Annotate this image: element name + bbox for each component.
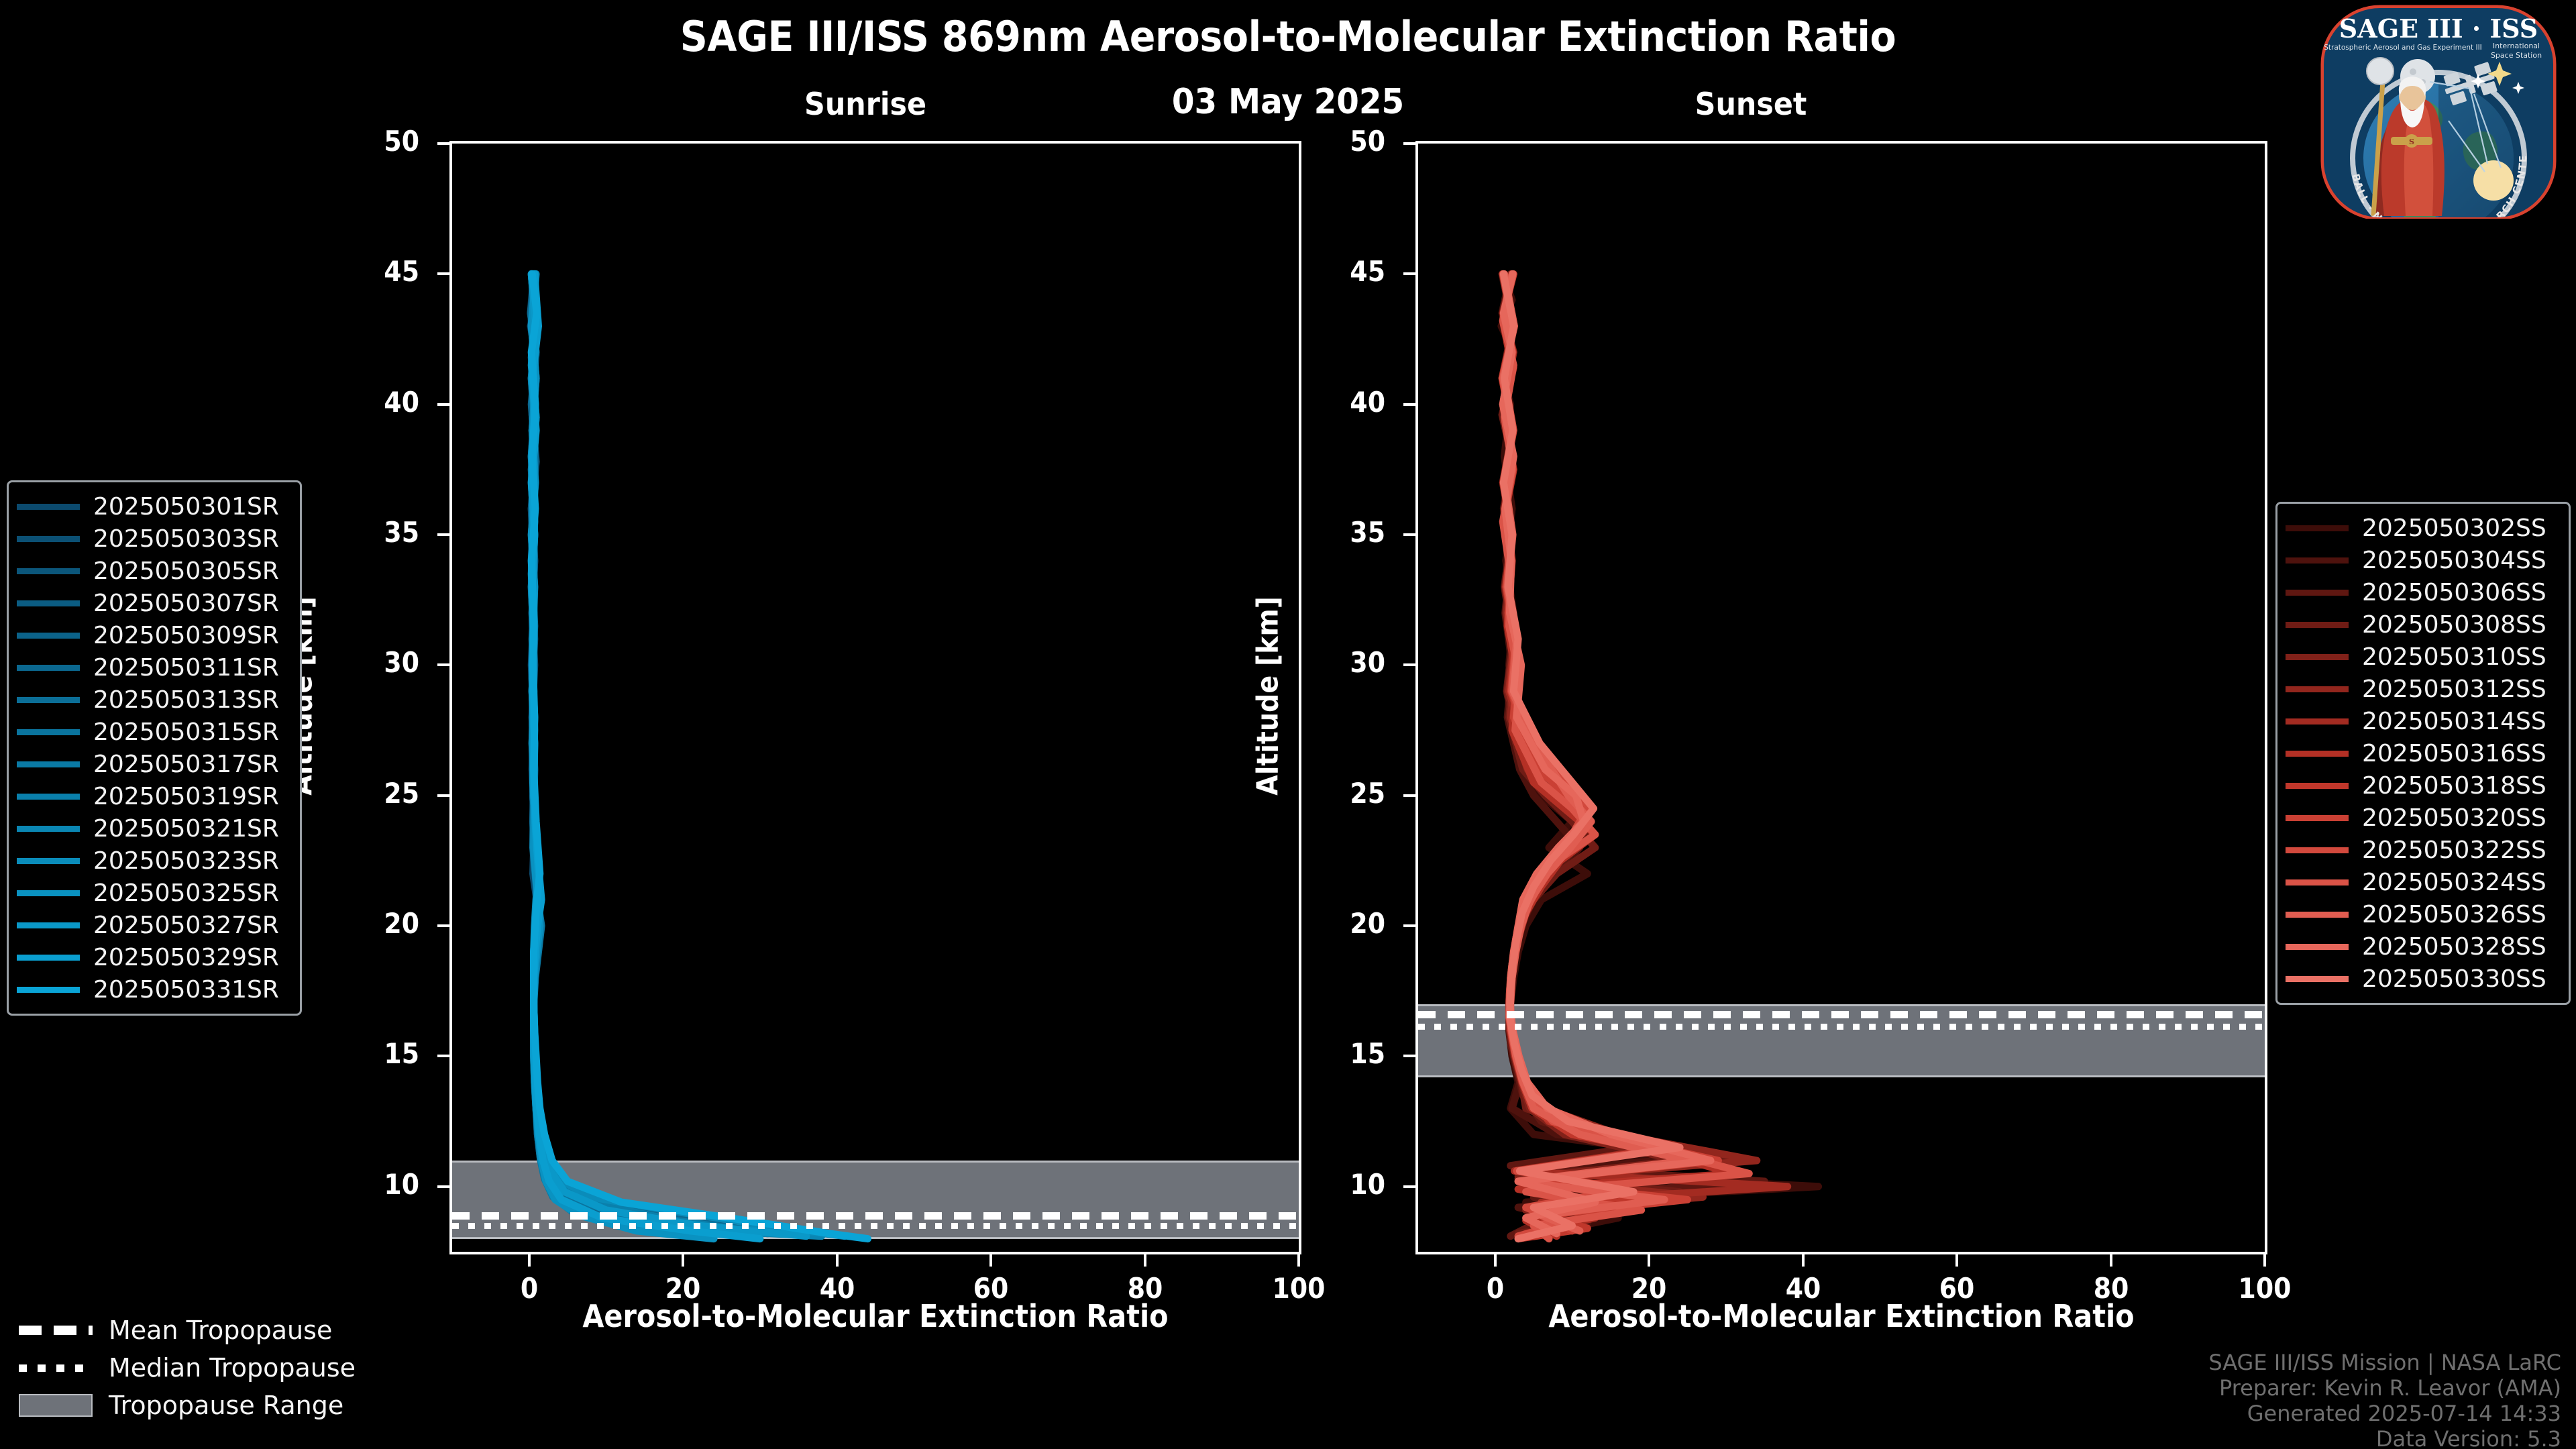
y-tick-label: 35 [329,516,419,549]
legend-color-swatch [17,697,80,703]
legend-color-swatch [17,922,80,928]
svg-text:S: S [2409,138,2414,146]
y-tick-mark [437,272,449,275]
legend-color-swatch [2286,976,2349,982]
series-line [531,274,767,1233]
legend-sunrise-item[interactable]: 2025050301SR [17,490,289,523]
median-tropopause-line [452,1223,1299,1229]
legend-item-label: 2025050315SR [93,718,279,746]
median-tropopause-line [1418,1024,2265,1030]
legend-sunset-item[interactable]: 2025050316SS [2286,737,2558,769]
series-line [531,274,845,1236]
legend-item-label: 2025050312SS [2362,676,2546,703]
shaded-band-icon [19,1394,93,1417]
series-line [531,274,721,1233]
legend-color-swatch [2286,751,2349,757]
legend-sunrise-item[interactable]: 2025050309SR [17,619,289,651]
legend-color-swatch [2286,718,2349,724]
legend-sunrise-item[interactable]: 2025050329SR [17,941,289,973]
legend-color-swatch [2286,622,2349,628]
chart-canvas: SAGE III/ISS 869nm Aerosol-to-Molecular … [0,0,2576,1449]
legend-color-swatch [17,504,80,510]
legend-item-label: 2025050306SS [2362,579,2546,606]
legend-color-swatch [17,890,80,896]
legend-sunrise-item[interactable]: 2025050317SR [17,748,289,780]
y-tick-label: 25 [1295,777,1385,810]
series-line [531,274,806,1236]
credits-line-preparer: Preparer: Kevin R. Leavor (AMA) [2208,1375,2561,1401]
legend-item-label: 2025050310SS [2362,643,2546,671]
y-tick-mark [1403,533,1415,536]
y-tick-label: 10 [1295,1168,1385,1201]
panel-title-sunset: Sunset [1333,86,2169,122]
legend-sunset-item[interactable]: 2025050324SS [2286,866,2558,898]
dotted-line-icon [19,1364,93,1372]
legend-color-swatch [17,794,80,800]
mission-patch-svg: S BALL · NASA LANGLEY RESEARCH CENTER · … [2305,3,2572,219]
series-line [531,274,821,1236]
x-tick-mark [528,1254,531,1267]
legend-color-swatch [17,858,80,864]
series-line [531,274,729,1233]
legend-color-swatch [17,536,80,542]
y-tick-label: 10 [329,1168,419,1201]
legend-sunrise-item[interactable]: 2025050331SR [17,973,289,1006]
series-line [531,274,760,1233]
legend-item-label: 2025050331SR [93,976,279,1004]
y-tick-label: 20 [1295,907,1385,940]
x-tick-mark [989,1254,992,1267]
legend-color-swatch [2286,686,2349,692]
mean-tropopause-line [452,1212,1299,1220]
y-tick-mark [1403,1185,1415,1188]
legend-color-swatch [2286,783,2349,789]
legend-color-swatch [17,955,80,961]
legend-color-swatch [17,665,80,671]
legend-item-label: 2025050303SR [93,525,279,553]
plot-area-sunrise [449,141,1301,1254]
plot-area-sunset [1415,141,2267,1254]
legend-sunset-item[interactable]: 2025050310SS [2286,641,2558,673]
legend-color-swatch [17,761,80,767]
series-line [531,274,814,1233]
legend-item-label: 2025050322SS [2362,837,2546,864]
series-line [531,274,683,1233]
legend-color-swatch [2286,654,2349,660]
legend-color-swatch [17,568,80,574]
dashed-line-icon [19,1326,93,1335]
mission-patch-subtitle-right-1: International [2493,42,2540,50]
x-tick-label: 100 [1244,1272,1353,1305]
y-tick-label: 40 [1295,386,1385,419]
legend-item-label: 2025050320SS [2362,804,2546,832]
x-tick-mark [2263,1254,2266,1267]
legend-sunrise-item[interactable]: 2025050303SR [17,523,289,555]
legend-item-label: 2025050311SR [93,654,279,682]
legend-color-swatch [2286,525,2349,531]
legend-item-label: 2025050326SS [2362,901,2546,928]
credits-line-generated: Generated 2025-07-14 14:33 [2208,1401,2561,1426]
y-tick-label: 25 [329,777,419,810]
mean-tropopause-label: Mean Tropopause [109,1316,332,1345]
legend-sunset[interactable]: 2025050302SS2025050304SS2025050306SS2025… [2275,502,2571,1005]
y-tick-label: 30 [329,646,419,679]
x-tick-mark [682,1254,684,1267]
page-title: SAGE III/ISS 869nm Aerosol-to-Molecular … [103,12,2473,61]
series-line [531,274,791,1233]
legend-item-label: 2025050314SS [2362,708,2546,735]
series-line [531,274,760,1238]
legend-sunrise-item[interactable]: 2025050307SR [17,587,289,619]
legend-color-swatch [2286,557,2349,563]
legend-item-label: 2025050307SR [93,590,279,617]
legend-sunset-item[interactable]: 2025050328SS [2286,930,2558,963]
legend-sunrise-item[interactable]: 2025050319SR [17,780,289,812]
y-tick-mark [437,1185,449,1188]
legend-sunset-item[interactable]: 2025050314SS [2286,705,2558,737]
legend-item-label: 2025050318SS [2362,772,2546,800]
legend-sunrise-item[interactable]: 2025050315SR [17,716,289,748]
series-line [531,274,783,1233]
legend-sunrise-item[interactable]: 2025050311SR [17,651,289,684]
legend-sunset-item[interactable]: 2025050302SS [2286,512,2558,544]
legend-sunset-item[interactable]: 2025050320SS [2286,802,2558,834]
series-line [531,274,714,1238]
y-tick-label: 20 [329,907,419,940]
legend-item-label: 2025050327SR [93,912,279,939]
legend-sunset-item[interactable]: 2025050308SS [2286,608,2558,641]
tropopause-legend: Mean Tropopause Median Tropopause Tropop… [19,1311,435,1424]
legend-item-label: 2025050309SR [93,622,279,649]
legend-sunset-item[interactable]: 2025050318SS [2286,769,2558,802]
mission-patch-subtitle-right-2: Space Station [2491,51,2542,60]
legend-color-swatch [2286,847,2349,853]
mission-patch-subtitle-left: Stratospheric Aerosol and Gas Experiment… [2324,44,2482,52]
y-tick-label: 50 [329,125,419,158]
series-line [531,274,745,1231]
x-tick-mark [1648,1254,1650,1267]
y-tick-mark [437,1055,449,1057]
y-tick-label: 15 [329,1037,419,1070]
legend-sunrise-item[interactable]: 2025050323SR [17,845,289,877]
legend-item-label: 2025050316SS [2362,740,2546,767]
legend-sunset-item[interactable]: 2025050322SS [2286,834,2558,866]
y-tick-label: 30 [1295,646,1385,679]
legend-color-swatch [2286,815,2349,821]
legend-color-swatch [17,987,80,993]
y-tick-mark [1403,794,1415,797]
x-tick-mark [836,1254,839,1267]
legend-item-label: 2025050329SR [93,944,279,971]
legend-sunset-item[interactable]: 2025050326SS [2286,898,2558,930]
legend-color-swatch [2286,912,2349,918]
y-tick-mark [437,403,449,406]
x-tick-mark [1955,1254,1958,1267]
legend-sunrise-item[interactable]: 2025050321SR [17,812,289,845]
y-tick-label: 35 [1295,516,1385,549]
y-tick-mark [1403,924,1415,927]
legend-item-label: 2025050330SS [2362,965,2546,993]
legend-sunset-item[interactable]: 2025050330SS [2286,963,2558,995]
legend-item-label: 2025050317SR [93,751,279,778]
legend-item-median-tropopause: Median Tropopause [19,1349,435,1387]
legend-color-swatch [17,600,80,606]
legend-sunset-item[interactable]: 2025050306SS [2286,576,2558,608]
mean-tropopause-line [1418,1011,2265,1018]
legend-item-label: 2025050305SR [93,557,279,585]
x-tick-mark [1297,1254,1300,1267]
legend-item-label: 2025050308SS [2362,611,2546,639]
credits-line-version: Data Version: 5.3 [2208,1426,2561,1449]
legend-item-label: 2025050325SR [93,879,279,907]
legend-item-label: 2025050313SR [93,686,279,714]
y-tick-mark [1403,403,1415,406]
legend-item-label: 2025050319SR [93,783,279,810]
y-tick-mark [1403,663,1415,666]
legend-item-label: 2025050321SR [93,815,279,843]
credits-block: SAGE III/ISS Mission | NASA LaRC Prepare… [2208,1350,2561,1449]
legend-sunrise-item[interactable]: 2025050305SR [17,555,289,587]
legend-item-label: 2025050304SS [2362,547,2546,574]
legend-color-swatch [2286,944,2349,950]
y-tick-label: 40 [329,386,419,419]
x-axis-title-sunrise: Aerosol-to-Molecular Extinction Ratio [492,1298,1259,1334]
series-layer [452,144,1299,1252]
credits-line-mission: SAGE III/ISS Mission | NASA LaRC [2208,1350,2561,1375]
legend-color-swatch [2286,590,2349,596]
series-line [531,274,867,1238]
x-tick-mark [1802,1254,1805,1267]
x-tick-mark [2110,1254,2112,1267]
x-tick-mark [1494,1254,1497,1267]
legend-item-mean-tropopause: Mean Tropopause [19,1311,435,1349]
sage-iii-iss-mission-patch-logo: S BALL · NASA LANGLEY RESEARCH CENTER · … [2305,3,2572,219]
legend-sunrise-item[interactable]: 2025050313SR [17,684,289,716]
legend-item-label: 2025050301SR [93,493,279,521]
y-tick-mark [437,142,449,145]
y-tick-label: 45 [329,255,419,288]
series-line [531,274,745,1233]
x-axis-title-sunset: Aerosol-to-Molecular Extinction Ratio [1458,1298,2225,1334]
y-tick-label: 15 [1295,1037,1385,1070]
legend-item-label: 2025050324SS [2362,869,2546,896]
y-tick-mark [1403,142,1415,145]
y-tick-label: 50 [1295,125,1385,158]
legend-sunset-item[interactable]: 2025050304SS [2286,544,2558,576]
legend-sunrise-item[interactable]: 2025050327SR [17,909,289,941]
legend-sunrise-item[interactable]: 2025050325SR [17,877,289,909]
legend-item-label: 2025050323SR [93,847,279,875]
legend-color-swatch [17,633,80,639]
legend-color-swatch [2286,879,2349,885]
y-tick-mark [1403,272,1415,275]
y-tick-mark [437,794,449,797]
x-tick-label: 100 [2210,1272,2319,1305]
legend-item-label: 2025050328SS [2362,933,2546,961]
median-tropopause-label: Median Tropopause [109,1353,356,1383]
y-tick-mark [437,533,449,536]
y-tick-mark [437,663,449,666]
legend-item-tropopause-range: Tropopause Range [19,1387,435,1424]
tropopause-range-label: Tropopause Range [109,1391,343,1420]
y-tick-mark [437,924,449,927]
legend-color-swatch [17,729,80,735]
legend-sunrise[interactable]: 2025050301SR2025050303SR2025050305SR2025… [7,480,302,1016]
y-axis-title-sunset: Altitude [km] [1251,570,1285,823]
y-tick-label: 45 [1295,255,1385,288]
y-tick-mark [1403,1055,1415,1057]
x-tick-mark [1144,1254,1146,1267]
legend-color-swatch [17,826,80,832]
mission-patch-title: SAGE III · ISS [2339,13,2538,44]
legend-item-label: 2025050302SS [2362,515,2546,542]
series-layer [1418,144,2265,1252]
legend-sunset-item[interactable]: 2025050312SS [2286,673,2558,705]
series-line [1503,274,1711,1233]
panel-title-sunrise: Sunrise [447,86,1283,122]
